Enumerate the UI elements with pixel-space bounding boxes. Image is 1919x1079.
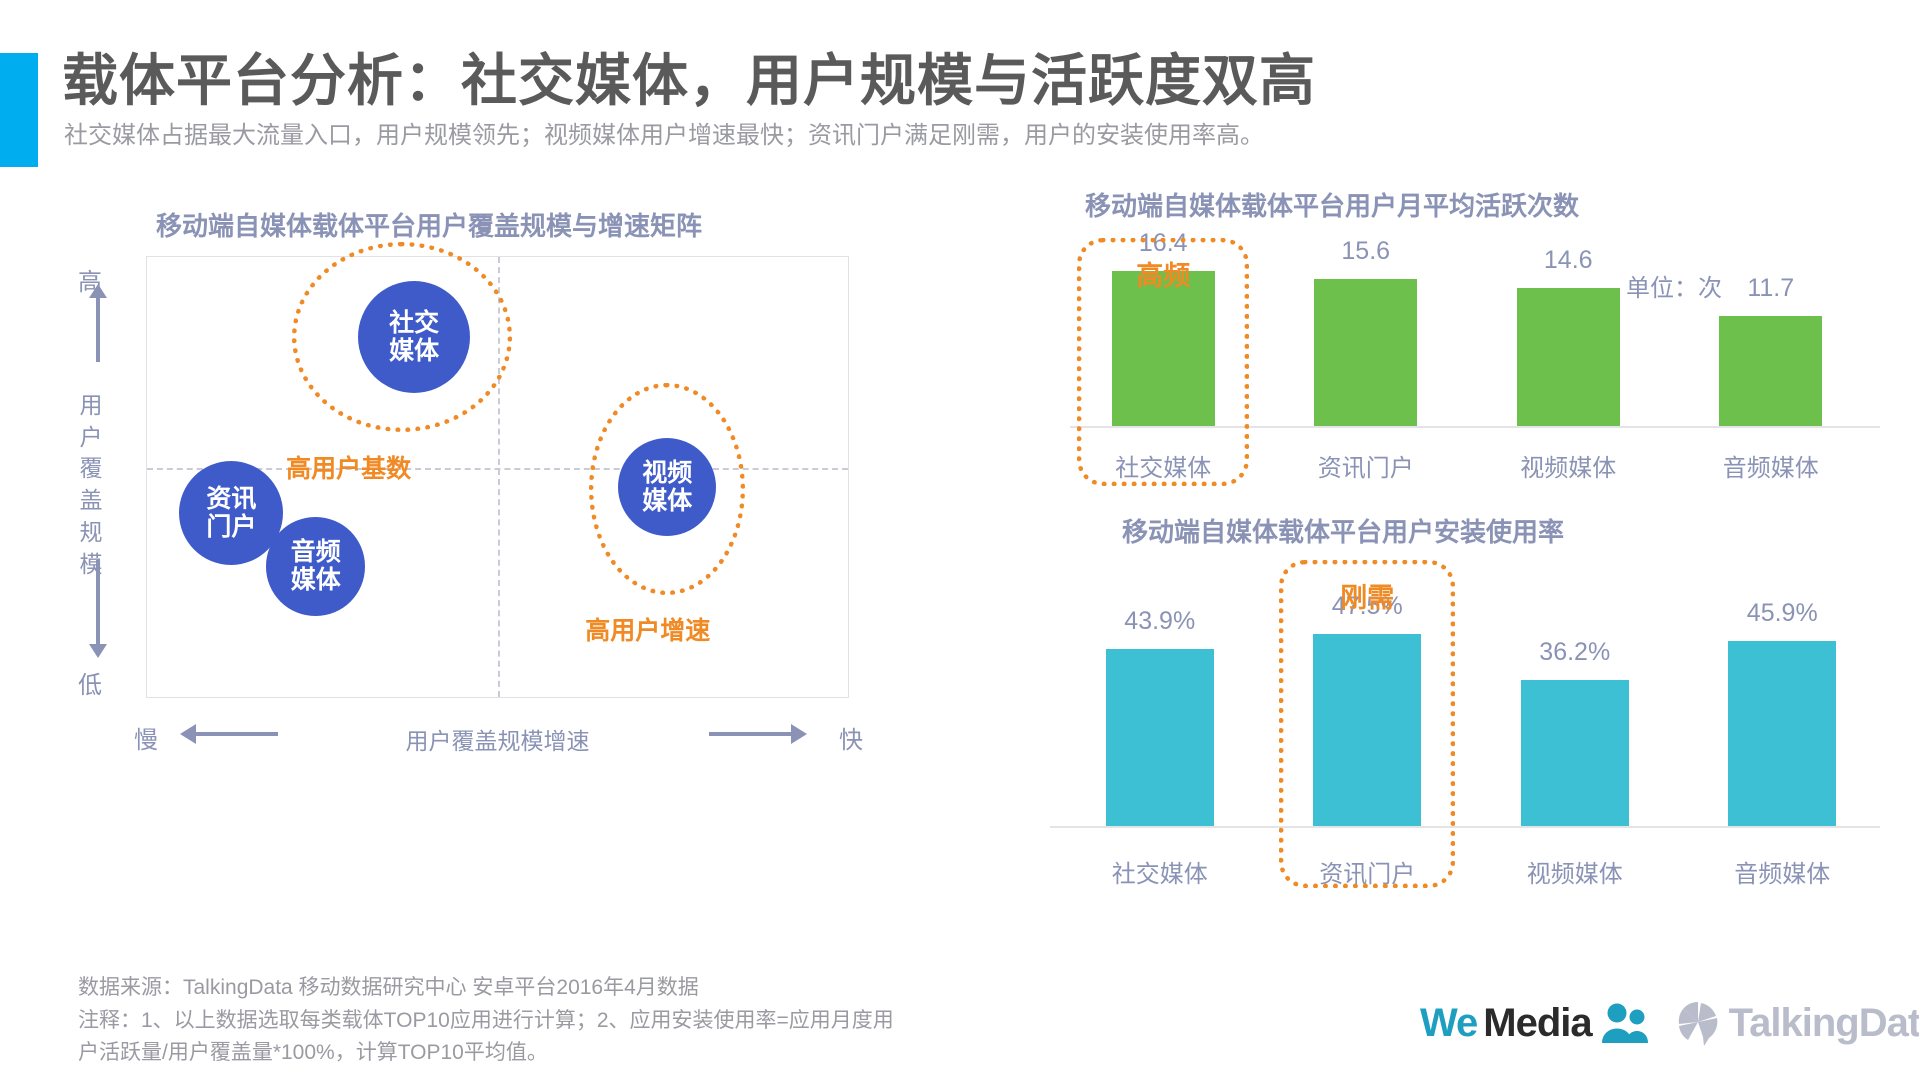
matrix-y-low-label: 低: [78, 665, 102, 700]
title-accent-bar: [0, 53, 38, 167]
install-rate-chart: 43.9%社交媒体47.5%资讯门户36.2%视频媒体45.9%音频媒体刚需: [1050, 560, 1880, 920]
bar-3[interactable]: [1517, 288, 1620, 426]
bar-1[interactable]: [1106, 649, 1214, 826]
matrix-bubble-label-line1: 资讯: [206, 485, 256, 513]
wemedia-we-text: We: [1420, 1001, 1477, 1046]
bar-chart-axis-line: [1050, 826, 1880, 828]
bar-4[interactable]: [1719, 316, 1822, 427]
bar-category-3: 视频媒体: [1495, 854, 1655, 889]
page-subtitle: 社交媒体占据最大流量入口，用户规模领先；视频媒体用户增速最快；资讯门户满足刚需，…: [64, 115, 1264, 150]
matrix-y-down-arrow-icon: [96, 560, 100, 646]
talkingdata-text: TalkingData: [1729, 1001, 1919, 1046]
monthly-active-chart: 16.4社交媒体15.6资讯门户14.6视频媒体11.7音频媒体单位：次高频: [1070, 240, 1880, 520]
matrix-y-axis-label: 用户覆盖规模: [78, 390, 104, 580]
matrix-x-axis: 慢 用户覆盖规模增速 快: [146, 714, 849, 758]
bar-value-3: 14.6: [1498, 246, 1638, 275]
wemedia-logo: WeMedia: [1420, 1001, 1650, 1046]
bar-category-4: 音频媒体: [1702, 854, 1862, 889]
slide-root: 载体平台分析：社交媒体，用户规模与活跃度双高 社交媒体占据最大流量入口，用户规模…: [0, 0, 1919, 1079]
bar-category-4: 音频媒体: [1691, 448, 1851, 483]
matrix-x-axis-label: 用户覆盖规模增速: [406, 722, 590, 756]
matrix-annotation-2: 高用户增速: [585, 611, 710, 647]
footnote-note-2: 户活跃量/用户覆盖量*100%，计算TOP10平均值。: [78, 1037, 1078, 1070]
matrix-bubble-3[interactable]: 音频媒体: [266, 517, 365, 616]
talkingdata-mark-icon: [1676, 1000, 1722, 1046]
monthly-active-chart-title: 移动端自媒体载体平台用户月平均活跃次数: [1085, 186, 1579, 223]
bar-value-1: 43.9%: [1090, 607, 1230, 636]
wemedia-media-text: Media: [1483, 1001, 1591, 1046]
matrix-x-left-arrow-icon: [194, 732, 278, 736]
bar-highlight-tag: 高频: [1083, 254, 1243, 293]
footnote-note-1: 注释：1、以上数据选取每类载体TOP10应用进行计算；2、应用安装使用率=应用月…: [78, 1005, 1078, 1038]
bar-highlight-tag: 刚需: [1287, 576, 1447, 615]
logo-row: WeMedia TalkingData: [1420, 1000, 1919, 1046]
matrix-bubble-label-line1: 音频: [291, 538, 341, 566]
matrix-plot-area: 社交媒体资讯门户音频媒体视频媒体高用户基数高用户增速: [146, 256, 849, 698]
matrix-bubble-label-line2: 媒体: [291, 566, 341, 594]
footnotes: 数据来源：TalkingData 移动数据研究中心 安卓平台2016年4月数据 …: [78, 972, 1078, 1070]
bar-value-2: 15.6: [1296, 237, 1436, 266]
bar-category-2: 资讯门户: [1286, 448, 1446, 483]
people-icon: [1598, 1002, 1650, 1044]
matrix-annotation-1: 高用户基数: [286, 449, 411, 485]
bar-value-3: 36.2%: [1505, 638, 1645, 667]
bar-3[interactable]: [1521, 680, 1629, 826]
matrix-chart-title: 移动端自媒体载体平台用户覆盖规模与增速矩阵: [156, 206, 702, 243]
bar-chart-unit-label: 单位：次: [1626, 268, 1722, 303]
matrix-y-up-arrow-icon: [96, 296, 100, 362]
bar-category-3: 视频媒体: [1488, 448, 1648, 483]
matrix-x-low-label: 慢: [134, 720, 158, 755]
install-rate-chart-title: 移动端自媒体载体平台用户安装使用率: [1122, 512, 1564, 549]
footnote-source: 数据来源：TalkingData 移动数据研究中心 安卓平台2016年4月数据: [78, 972, 1078, 1005]
bar-category-1: 社交媒体: [1080, 854, 1240, 889]
bar-value-4: 45.9%: [1712, 599, 1852, 628]
bar-4[interactable]: [1728, 641, 1836, 826]
matrix-highlight-ring-2: [589, 383, 745, 595]
bar-2[interactable]: [1314, 279, 1417, 426]
talkingdata-logo: TalkingData: [1676, 1000, 1919, 1046]
matrix-bubble-label-line2: 门户: [206, 513, 256, 541]
matrix-x-right-arrow-icon: [709, 732, 793, 736]
matrix-x-high-label: 快: [839, 720, 863, 755]
page-title: 载体平台分析：社交媒体，用户规模与活跃度双高: [62, 36, 1316, 117]
matrix-highlight-ring-1: [292, 242, 512, 432]
